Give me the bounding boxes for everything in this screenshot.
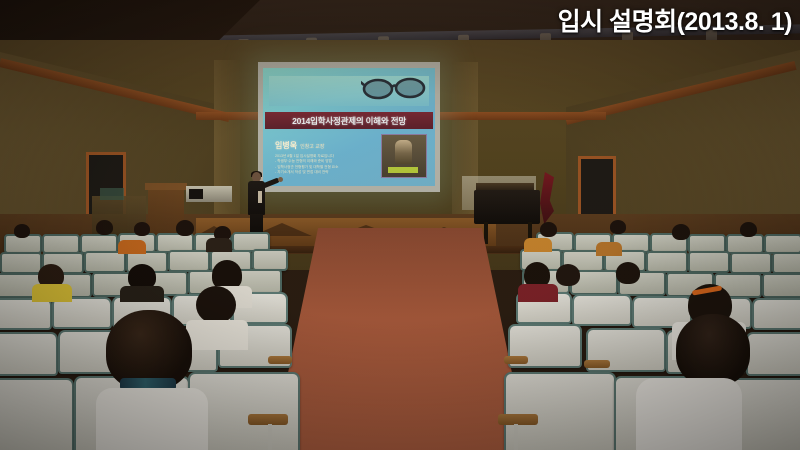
audience-head (540, 222, 557, 237)
auditorium-photo: 2014입학사정관제의 이해와 전망 임병욱인창고 교장 2013년 8월 1일… (0, 0, 800, 450)
slide-presenter-title: 인창고 교장 (300, 144, 324, 150)
center-aisle-carpet (272, 228, 528, 450)
projection-screen-frame: 2014입학사정관제의 이해와 전망 임병욱인창고 교장 2013년 8월 1일… (258, 62, 440, 192)
grand-piano (474, 190, 540, 224)
audience-head (610, 220, 626, 234)
seat (84, 251, 126, 273)
audience-head (556, 264, 580, 286)
seat-armrest (584, 360, 610, 368)
photo-caption-bar (388, 167, 418, 173)
eyeglasses-icon (361, 72, 427, 102)
audience-body (524, 238, 552, 252)
seat-leg (514, 424, 518, 450)
audience-body (32, 284, 72, 302)
audience-head (96, 220, 113, 235)
seat (646, 251, 688, 273)
audience-head (176, 220, 194, 236)
seat (726, 234, 764, 254)
slide-bullet-list: 2013년 8월 1일 입시설명회 자료입니다 - 학생부·수능 전형의 이해와… (275, 154, 361, 176)
seat (688, 251, 730, 273)
seat (764, 234, 800, 254)
audience-body (118, 240, 146, 254)
podium-monitor (186, 186, 232, 202)
podium-top (145, 183, 187, 190)
seat (42, 234, 80, 254)
seat (772, 252, 800, 274)
seat (572, 294, 632, 326)
audience-body (596, 242, 622, 256)
seat (0, 378, 74, 450)
presenter-hand (278, 177, 283, 182)
seat (504, 372, 616, 450)
slide-title: 2014입학사정관제의 이해와 전망 (292, 115, 406, 127)
slide-presenter: 임병욱인창고 교장 (275, 140, 324, 151)
seat (752, 298, 800, 330)
audience-body (96, 388, 208, 450)
audience-head (672, 224, 690, 240)
seat (0, 298, 52, 330)
seat (746, 332, 800, 376)
seat (252, 249, 288, 271)
audience-head (616, 262, 640, 284)
audience-body (518, 284, 558, 302)
presenter-shirt (258, 191, 262, 203)
seat-leg (268, 424, 272, 450)
seat-armrest (498, 414, 538, 425)
seat (730, 252, 772, 274)
seat-armrest (504, 356, 528, 364)
slide-title-banner: 2014입학사정관제의 이해와 전망 (265, 112, 433, 129)
wall-column-left (214, 60, 240, 240)
seat-armrest (268, 356, 292, 364)
seat (168, 250, 210, 272)
seat (762, 273, 800, 298)
slide-presenter-name: 임병욱 (275, 141, 297, 150)
audience-head (196, 286, 236, 324)
table-item (100, 188, 124, 200)
seat (0, 332, 58, 376)
audience-head (676, 314, 750, 386)
seat (0, 252, 42, 274)
audience-head (740, 222, 757, 237)
slide-presenter-photo (381, 134, 427, 178)
slide-bullet: - 자기소개서 작성 및 면접 대비 전략 (275, 170, 361, 175)
audience-body (636, 378, 742, 450)
audience-seating (0, 228, 800, 450)
audience-body (186, 320, 248, 350)
photo-caption: 입시 설명회(2013.8. 1) (558, 2, 792, 38)
audience-head (134, 222, 150, 236)
audience-head (14, 224, 30, 238)
audience-body (206, 238, 232, 252)
audience-body (120, 286, 164, 302)
monitor-display (189, 189, 203, 199)
projection-screen: 2014입학사정관제의 이해와 전망 임병욱인창고 교장 2013년 8월 1일… (263, 68, 435, 186)
photo-figure (395, 140, 412, 164)
